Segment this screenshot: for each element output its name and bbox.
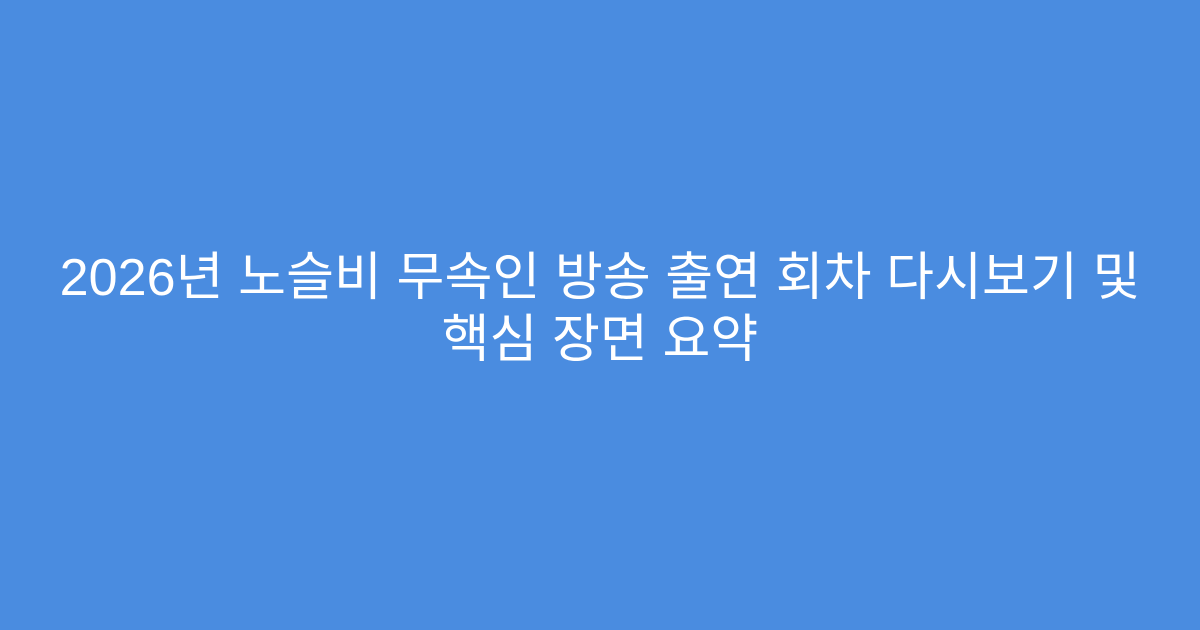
title-block: 2026년 노슬비 무속인 방송 출연 회차 다시보기 및 핵심 장면 요약 (58, 247, 1143, 371)
og-banner-card: 2026년 노슬비 무속인 방송 출연 회차 다시보기 및 핵심 장면 요약 (0, 0, 1200, 630)
page-title: 2026년 노슬비 무속인 방송 출연 회차 다시보기 및 핵심 장면 요약 (58, 247, 1143, 371)
